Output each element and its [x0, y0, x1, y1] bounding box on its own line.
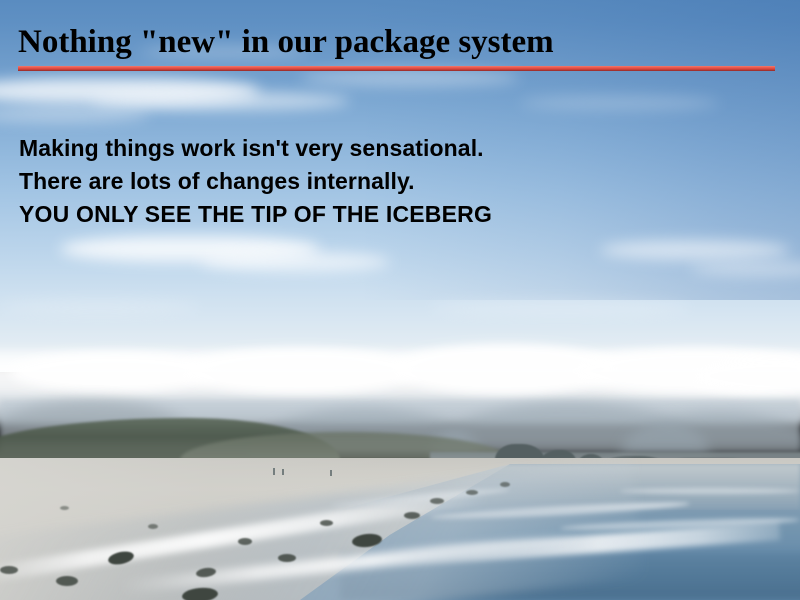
cirrus-cloud	[90, 92, 350, 110]
slide-body: Making things work isn't very sensationa…	[19, 132, 492, 231]
cirrus-cloud	[600, 240, 790, 260]
slide: Nothing "new" in our package system Maki…	[0, 0, 800, 600]
distant-person	[330, 470, 332, 476]
seaweed-clump	[0, 566, 18, 574]
cloud-lump	[180, 348, 420, 394]
seaweed-clump	[466, 490, 478, 495]
body-line-1: Making things work isn't very sensationa…	[19, 132, 492, 165]
body-line-2: There are lots of changes internally.	[19, 165, 492, 198]
seaweed-clump	[56, 576, 78, 586]
distant-person	[273, 468, 275, 475]
background-photo	[0, 0, 800, 600]
wave-line	[620, 488, 800, 494]
cirrus-cloud	[0, 300, 200, 314]
seaweed-clump	[430, 498, 444, 504]
seaweed-clump	[404, 512, 420, 519]
cirrus-cloud	[200, 252, 390, 272]
cirrus-cloud	[300, 70, 520, 86]
seaweed-clump	[148, 524, 158, 529]
title-underline-rule	[18, 66, 775, 71]
seaweed-clump	[500, 482, 510, 487]
seaweed-clump	[238, 538, 252, 545]
seaweed-clump	[278, 554, 296, 562]
cirrus-cloud	[430, 300, 690, 316]
cirrus-cloud	[520, 96, 720, 110]
seaweed-clump	[60, 506, 69, 510]
seaweed-clump	[320, 520, 333, 526]
body-line-3: YOU ONLY SEE THE TIP OF THE ICEBERG	[19, 198, 492, 231]
slide-title: Nothing "new" in our package system	[18, 22, 554, 62]
distant-person	[282, 469, 284, 475]
